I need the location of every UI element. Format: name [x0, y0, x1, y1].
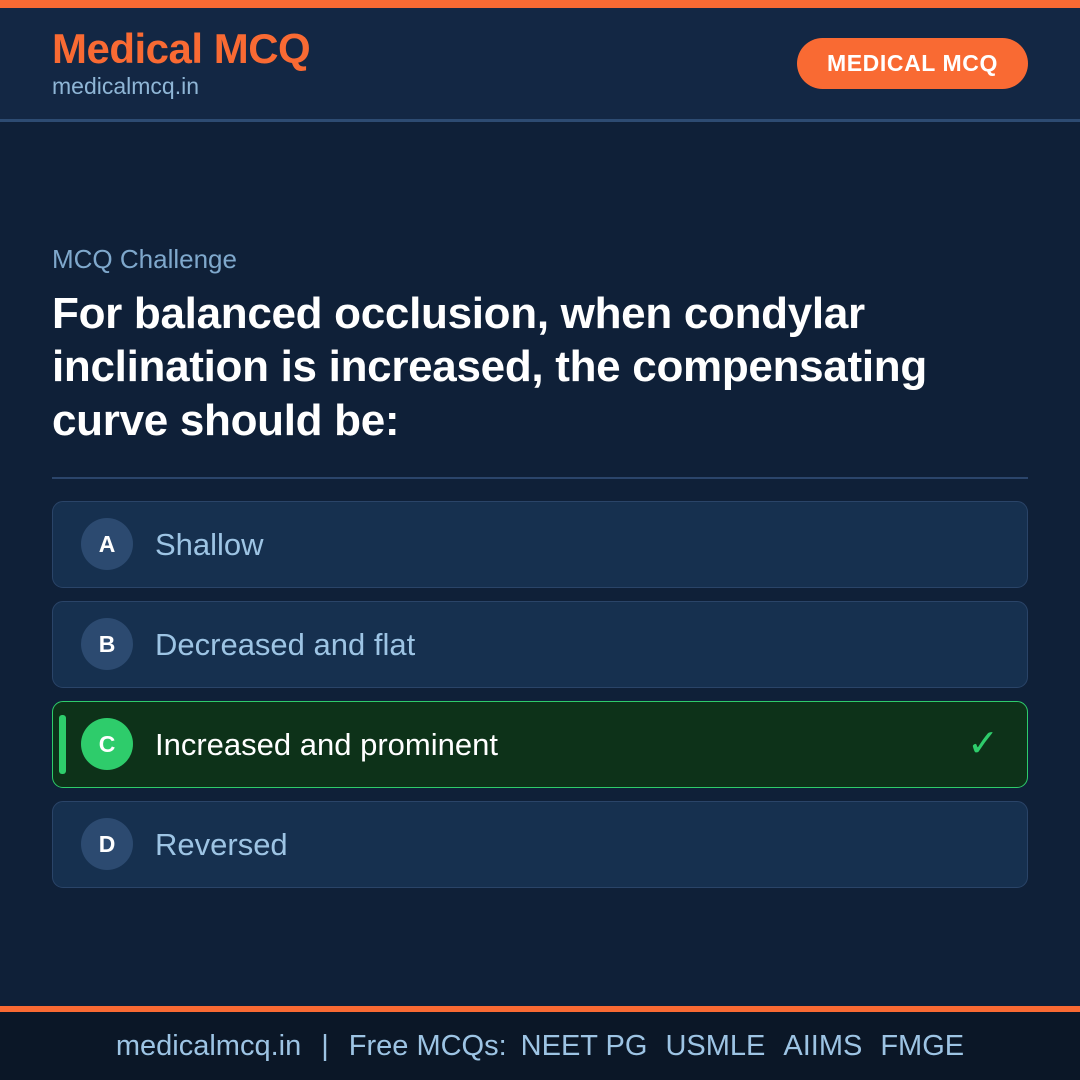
option-letter-badge: D: [81, 818, 133, 870]
option-label: Increased and prominent: [155, 726, 951, 763]
brand-subtitle: medicalmcq.in: [52, 73, 310, 99]
option-row-c[interactable]: C Increased and prominent ✓: [52, 701, 1028, 788]
option-label: Decreased and flat: [155, 626, 983, 663]
footer-site[interactable]: medicalmcq.in: [116, 1030, 301, 1063]
option-label: Reversed: [155, 826, 983, 863]
app-header: Medical MCQ medicalmcq.in MEDICAL MCQ: [0, 8, 1080, 122]
footer-separator: |: [315, 1030, 335, 1063]
option-letter-badge: A: [81, 518, 133, 570]
eyebrow-label: MCQ Challenge: [52, 244, 1028, 275]
footer-exam-neet-pg[interactable]: NEET PG: [521, 1030, 648, 1063]
footer-exam-usmle[interactable]: USMLE: [665, 1030, 765, 1063]
option-letter-badge: C: [81, 718, 133, 770]
option-row-d[interactable]: D Reversed: [52, 801, 1028, 888]
question-text: For balanced occlusion, when condylar in…: [52, 287, 1012, 447]
footer-exam-fmge[interactable]: FMGE: [880, 1030, 964, 1063]
top-accent-strip: [0, 0, 1080, 8]
option-letter-badge: B: [81, 618, 133, 670]
footer-exam-list: NEET PG USMLE AIIMS FMGE: [521, 1030, 964, 1063]
options-list: A Shallow B Decreased and flat C Increas…: [52, 501, 1028, 888]
brand-block: Medical MCQ medicalmcq.in: [52, 27, 310, 100]
footer-exam-aiims[interactable]: AIIMS: [783, 1030, 862, 1063]
main-content: MCQ Challenge For balanced occlusion, wh…: [0, 122, 1080, 1006]
footer-text: medicalmcq.in | Free MCQs: NEET PG USMLE…: [116, 1030, 964, 1063]
option-label: Shallow: [155, 526, 983, 563]
correct-accent-bar: [59, 715, 66, 774]
question-divider: [52, 477, 1028, 479]
option-row-a[interactable]: A Shallow: [52, 501, 1028, 588]
option-row-b[interactable]: B Decreased and flat: [52, 601, 1028, 688]
footer-prefix: Free MCQs:: [349, 1030, 507, 1063]
check-icon: ✓: [967, 725, 999, 763]
app-footer: medicalmcq.in | Free MCQs: NEET PG USMLE…: [0, 1012, 1080, 1080]
header-badge: MEDICAL MCQ: [797, 38, 1028, 89]
brand-title: Medical MCQ: [52, 27, 310, 71]
